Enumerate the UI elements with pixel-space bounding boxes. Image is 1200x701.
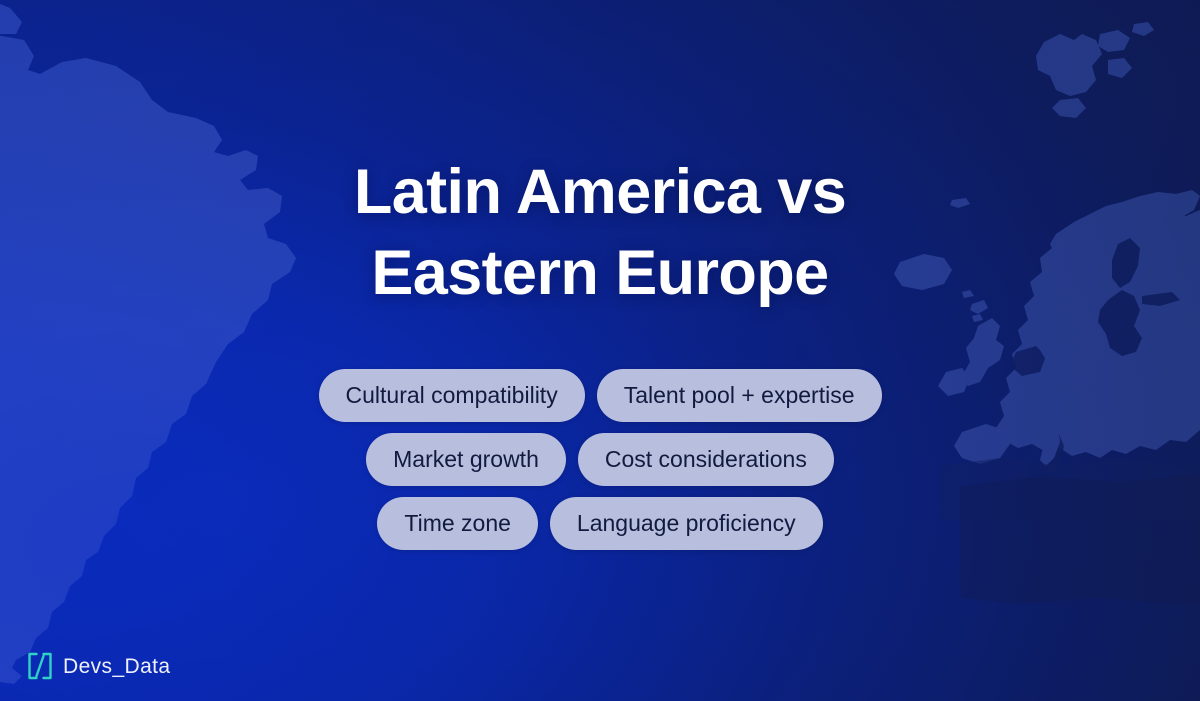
topic-pill-row: Time zone Language proficiency: [377, 497, 822, 550]
banner-title-line-1: Latin America vs: [0, 152, 1200, 233]
topic-pill-cultural-compatibility: Cultural compatibility: [319, 369, 585, 422]
topic-pill-row: Market growth Cost considerations: [366, 433, 834, 486]
topic-pill-talent-pool-expertise: Talent pool + expertise: [597, 369, 882, 422]
code-brackets-icon: [24, 651, 56, 681]
topic-pill-market-growth: Market growth: [366, 433, 566, 486]
topic-pill-language-proficiency: Language proficiency: [550, 497, 823, 550]
promo-banner: Latin America vs Eastern Europe Cultural…: [0, 0, 1200, 701]
topic-pill-cost-considerations: Cost considerations: [578, 433, 834, 486]
devsdata-logo-text: Devs_Data: [63, 656, 170, 677]
devsdata-logo: Devs_Data: [24, 651, 170, 681]
topic-pill-time-zone: Time zone: [377, 497, 538, 550]
banner-content: Latin America vs Eastern Europe Cultural…: [0, 0, 1200, 701]
topic-pill-group: Cultural compatibility Talent pool + exp…: [0, 369, 1200, 550]
banner-title-line-2: Eastern Europe: [0, 233, 1200, 314]
topic-pill-row: Cultural compatibility Talent pool + exp…: [319, 369, 882, 422]
banner-title: Latin America vs Eastern Europe: [0, 152, 1200, 314]
